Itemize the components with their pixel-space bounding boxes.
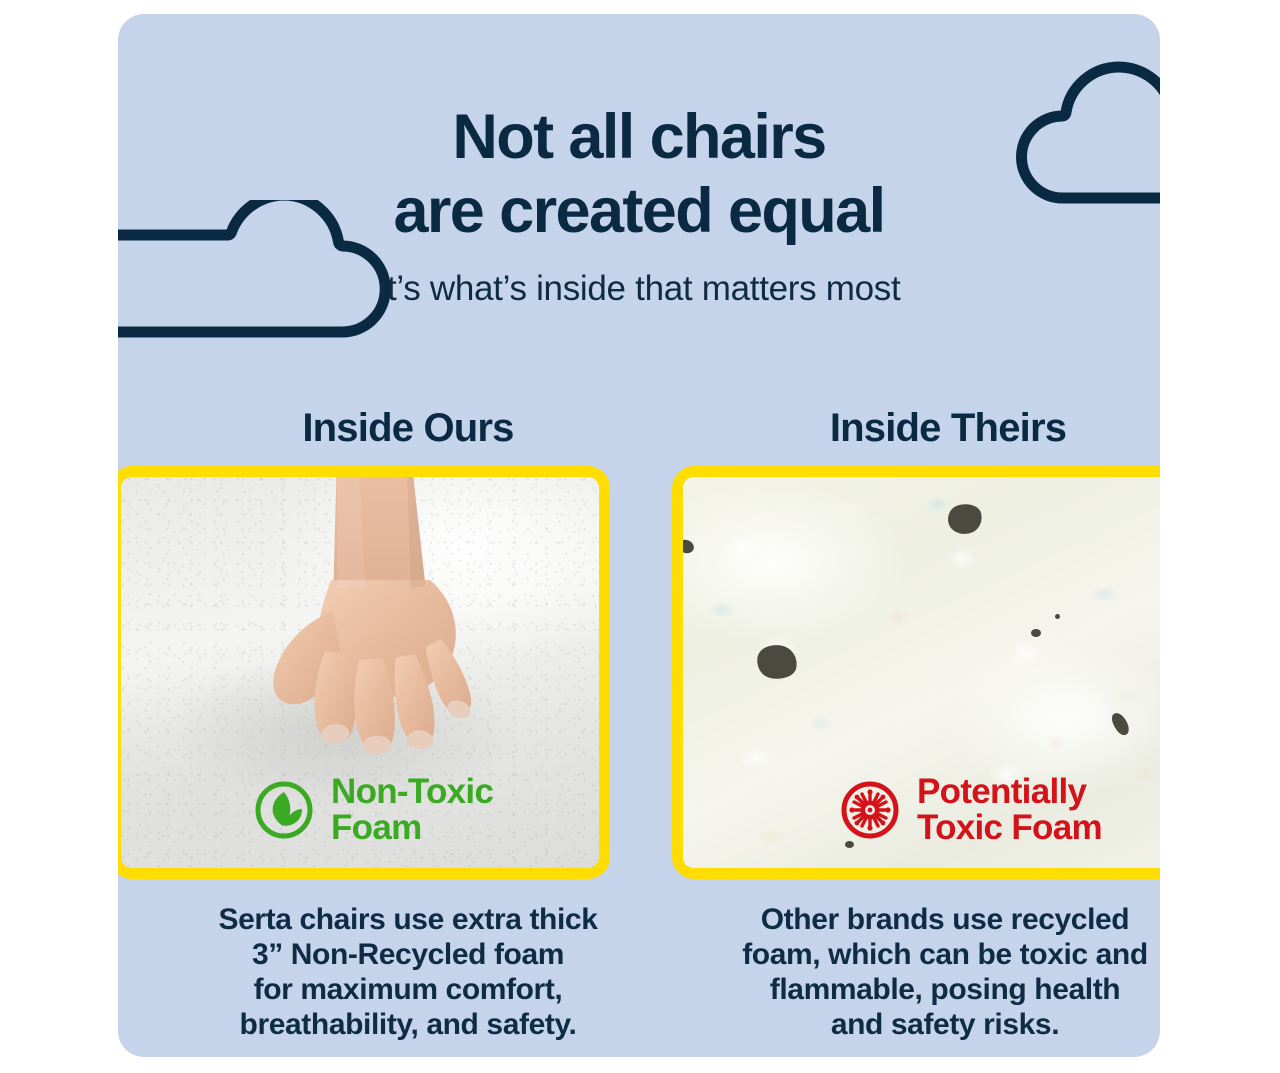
subtitle: It’s what’s inside that matters most <box>118 269 1160 309</box>
badge-label-non-toxic: Non-Toxic Foam <box>331 774 493 846</box>
caption-ours: Serta chairs use extra thick 3” Non-Recy… <box>128 902 688 1042</box>
headline-line-1: Not all chairs <box>452 102 825 172</box>
badge-potentially-toxic: Potentially Toxic Foam <box>839 774 1102 846</box>
leaf-icon <box>253 779 315 841</box>
panel-ours: Non-Toxic Foam <box>118 466 610 879</box>
germ-icon <box>839 779 901 841</box>
infographic-card: Not all chairs are created equal It’s wh… <box>118 14 1160 1057</box>
infographic-stage: Not all chairs are created equal It’s wh… <box>0 0 1280 1073</box>
column-title-theirs: Inside Theirs <box>678 406 1160 451</box>
panel-theirs: Potentially Toxic Foam <box>672 466 1160 879</box>
badge-label-potentially-toxic: Potentially Toxic Foam <box>917 774 1102 846</box>
caption-theirs: Other brands use recycled foam, which ca… <box>690 902 1160 1042</box>
badge-non-toxic: Non-Toxic Foam <box>253 774 493 846</box>
column-title-ours: Inside Ours <box>138 406 678 451</box>
headline-line-2: are created equal <box>118 174 1160 248</box>
hand-illustration <box>245 477 503 790</box>
page-title: Not all chairs are created equal <box>118 100 1160 248</box>
